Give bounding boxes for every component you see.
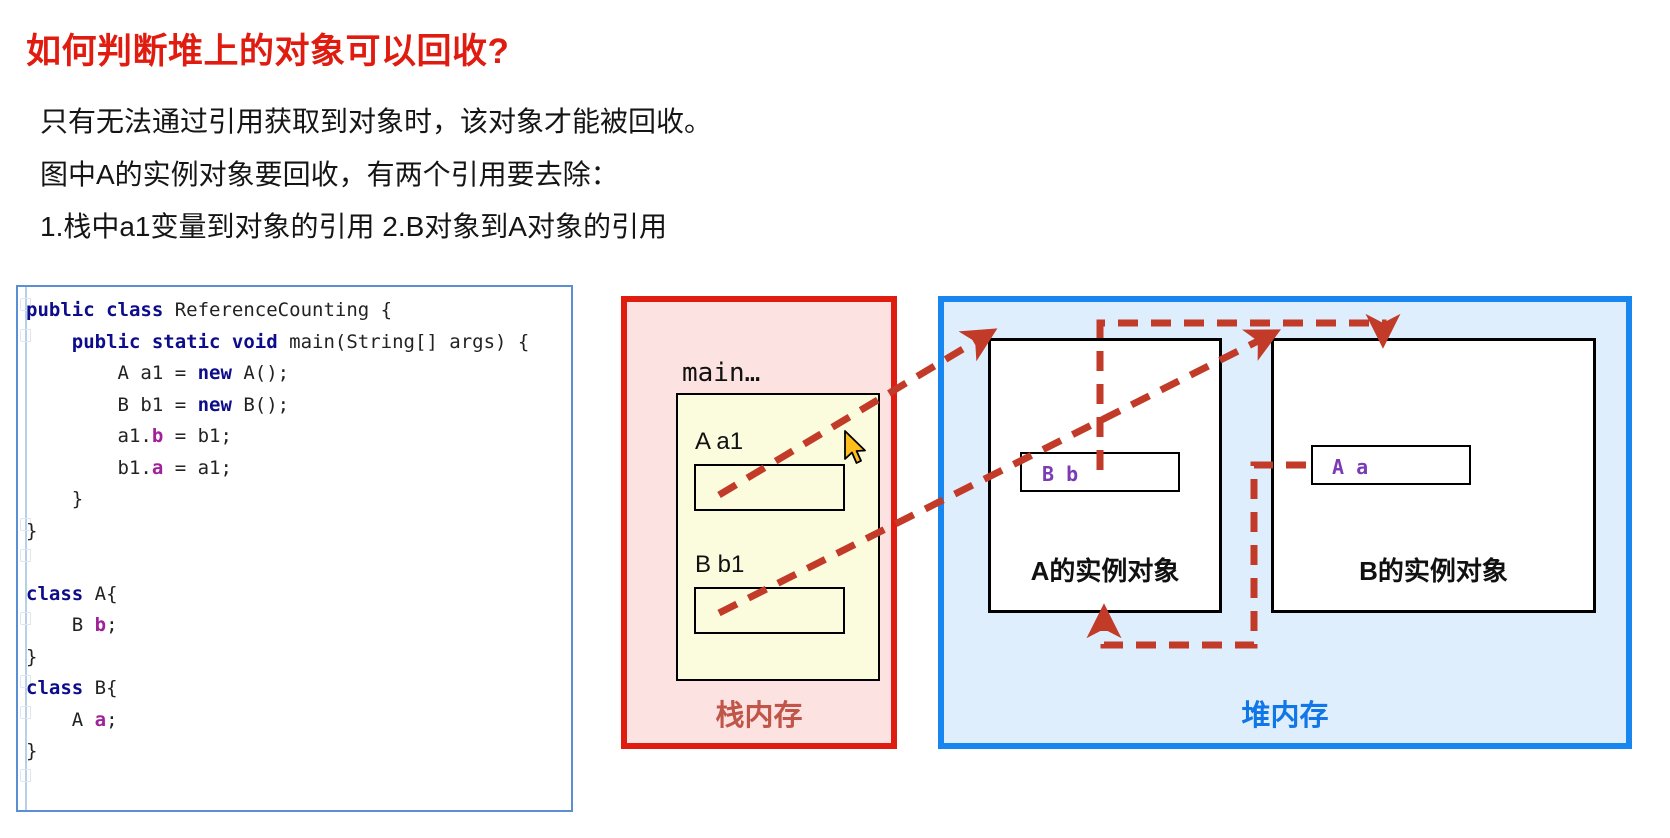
heap-object-b-field-a-label: A a — [1332, 455, 1368, 479]
body-line-1: 只有无法通过引用获取到对象时，该对象才能被回收。 — [40, 100, 712, 140]
body-line-2: 图中A的实例对象要回收，有两个引用要去除： — [40, 153, 619, 193]
heap-object-b-instance-label: B的实例对象 — [1271, 551, 1596, 588]
stack-frame-label: main… — [682, 358, 760, 388]
code-editor-panel[interactable]: public class ReferenceCounting { public … — [16, 285, 573, 812]
stack-variable-b1-slot[interactable] — [694, 587, 845, 634]
mouse-pointer-icon — [843, 430, 869, 468]
stack-variable-a1-label: A a1 — [695, 428, 743, 456]
page-title: 如何判断堆上的对象可以回收? — [26, 23, 509, 74]
stack-memory-label: 栈内存 — [621, 692, 897, 734]
body-line-3: 1.栈中a1变量到对象的引用 2.B对象到A对象的引用 — [40, 205, 667, 245]
stack-variable-a1-slot[interactable] — [694, 464, 845, 511]
heap-object-a-field-b-label: B b — [1042, 462, 1078, 486]
heap-memory-label: 堆内存 — [938, 692, 1632, 734]
code-text: public class ReferenceCounting { public … — [26, 295, 529, 768]
heap-object-a-instance-label: A的实例对象 — [988, 551, 1222, 588]
stack-variable-b1-label: B b1 — [695, 551, 744, 579]
code-fold-marker[interactable] — [20, 769, 31, 782]
